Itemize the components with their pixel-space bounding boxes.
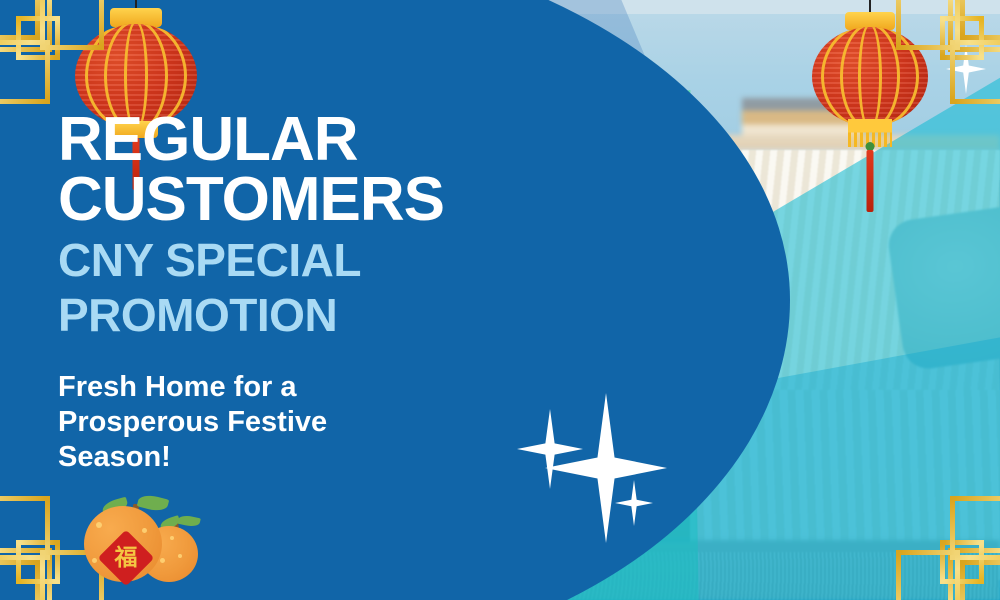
sparkle-icon [615, 480, 653, 526]
headline-block: REGULAR CUSTOMERS CNY SPECIAL PROMOTION [58, 110, 478, 339]
mandarin-leaf [177, 514, 201, 528]
cny-promotion-banner: REGULAR CUSTOMERS CNY SPECIAL PROMOTION … [0, 0, 1000, 600]
gold-fretwork-corner-bottom-right [896, 496, 1000, 600]
mandarin-large: 福 [84, 506, 162, 582]
fu-character: 福 [115, 547, 138, 570]
mandarin-oranges: 福 [78, 492, 200, 588]
gold-fretwork-corner-top-left [0, 0, 104, 104]
headline-line-2: CUSTOMERS [58, 170, 478, 230]
subheadline-line-1: CNY SPECIAL [58, 237, 478, 284]
headline-line-1: REGULAR [58, 110, 478, 170]
tagline: Fresh Home for a Prosperous Festive Seas… [58, 370, 388, 474]
fu-charm: 福 [98, 530, 155, 587]
subheadline-line-2: PROMOTION [58, 292, 478, 339]
lantern-tassel [867, 150, 874, 212]
gold-fretwork-corner-top-right [896, 0, 1000, 104]
